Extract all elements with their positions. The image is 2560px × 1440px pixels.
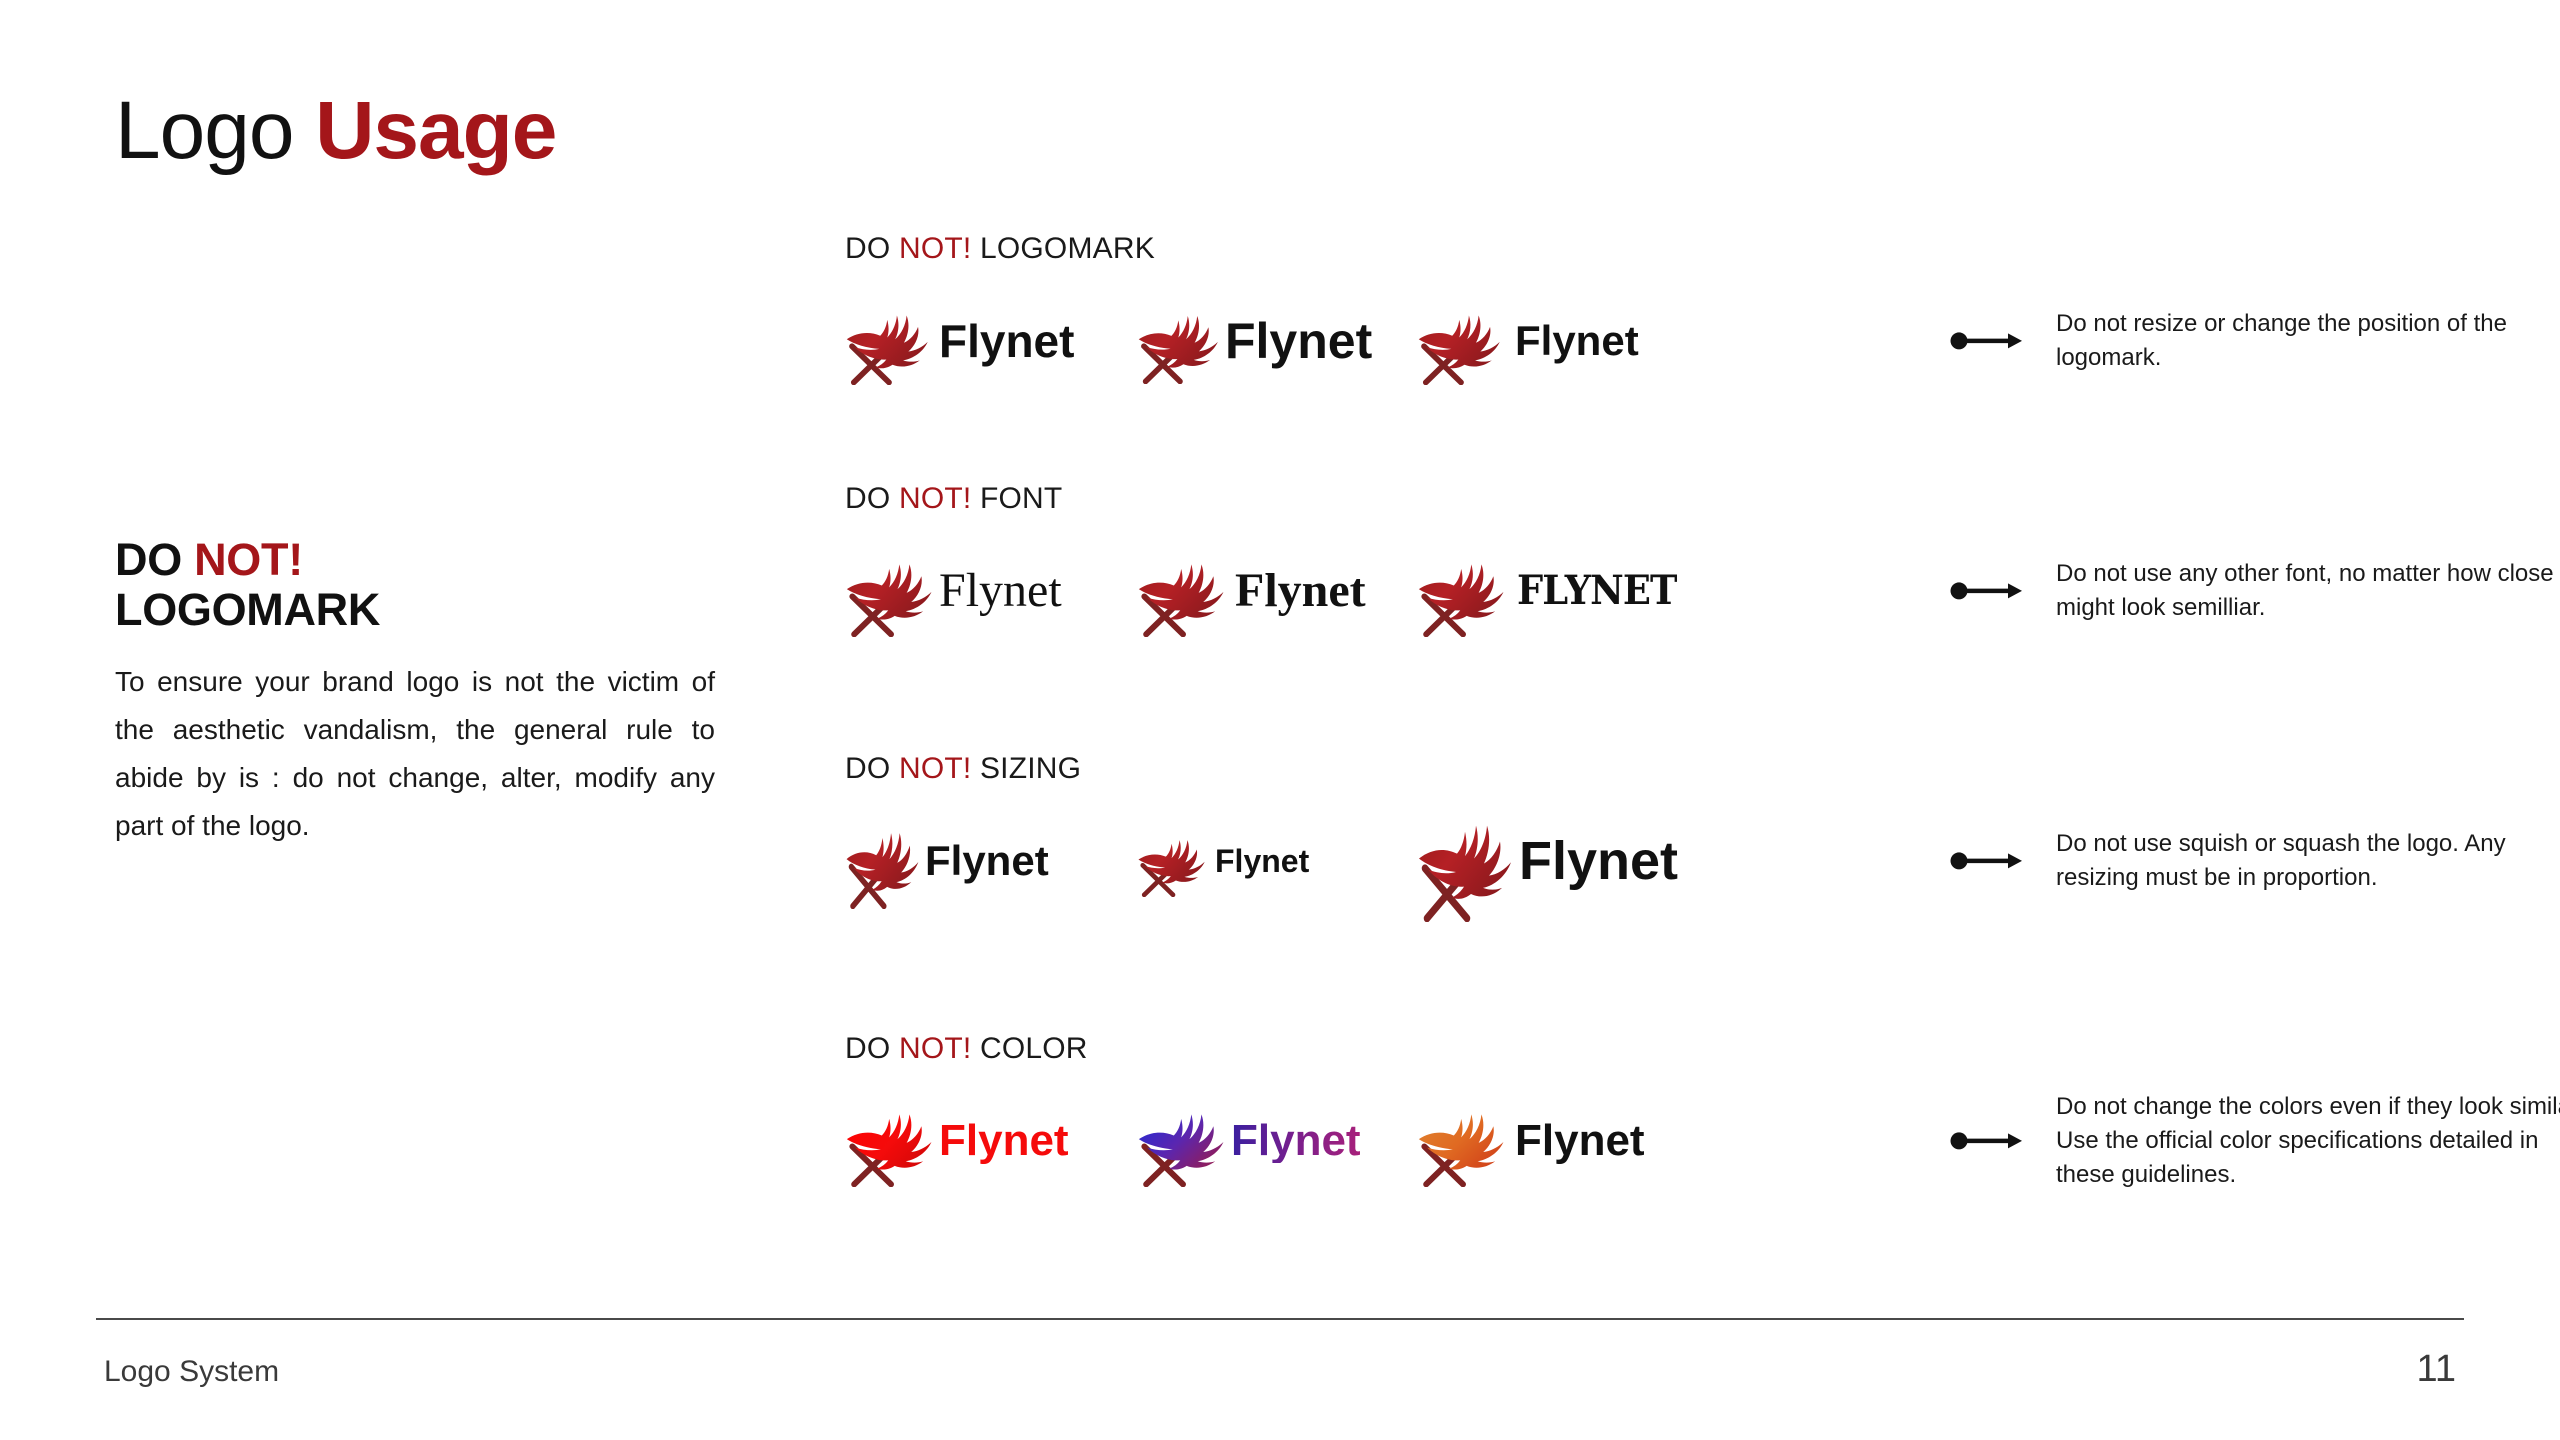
- logo-example-row: Flynet Flynet FLYNET Do not use any othe…: [845, 516, 2445, 666]
- logo-lockup: FLYNET: [1417, 545, 1690, 637]
- logo-example-row: Flynet Flynet Flynet Do not change the c…: [845, 1066, 2445, 1216]
- arrow-right-icon: [1950, 329, 2024, 353]
- logo-wordmark: Flynet: [1515, 320, 1639, 362]
- flynet-bird-flame-logomark: [1417, 800, 1517, 922]
- intro-heading-logomark: LOGOMARK: [115, 584, 380, 635]
- logo-lockup: Flynet: [845, 545, 1062, 637]
- section-label-topic: LOGOMARK: [980, 232, 1155, 265]
- logo-lockup: Flynet: [1137, 1095, 1361, 1187]
- intro-body-text: To ensure your brand logo is not the vic…: [115, 658, 715, 851]
- logo-wordmark: Flynet: [1515, 1119, 1645, 1163]
- logo-lockup: Flynet: [1137, 298, 1372, 384]
- annotation-text: Do not resize or change the position of …: [2056, 307, 2560, 375]
- arrow-right-icon: [1950, 579, 2024, 603]
- intro-heading: DO NOT! LOGOMARK: [115, 535, 715, 636]
- logo-example: Flynet: [1137, 786, 1309, 936]
- logo-wordmark: Flynet: [939, 1119, 1069, 1163]
- annotation-text: Do not use squish or squash the logo. An…: [2056, 827, 2560, 895]
- logo-wordmark: FLYNET: [1517, 571, 1676, 611]
- page-title: Logo Usage: [115, 88, 556, 174]
- section-label-not: NOT!: [899, 752, 971, 785]
- section-label-not: NOT!: [899, 1032, 971, 1065]
- section-label-sizing: DO NOT! SIZING: [845, 752, 2445, 786]
- logo-lockup: Flynet: [1137, 825, 1309, 897]
- section-label-do: DO: [845, 1032, 890, 1065]
- do-not-section: DO NOT! SIZING Flynet Flynet Flynet Do n…: [845, 752, 2445, 936]
- annotation-text: Do not change the colors even if they lo…: [2056, 1090, 2560, 1192]
- flynet-bird-flame-logomark: [1417, 297, 1505, 385]
- logo-example: Flynet: [845, 516, 1062, 666]
- intro-column: DO NOT! LOGOMARK To ensure your brand lo…: [115, 535, 715, 850]
- flynet-bird-flame-logomark: [1417, 1095, 1509, 1187]
- logo-wordmark: Flynet: [1231, 1119, 1361, 1163]
- logo-wordmark: Flynet: [939, 567, 1062, 615]
- logo-example: Flynet: [1417, 266, 1639, 416]
- logo-example-row: Flynet Flynet Flynet Do not use squish o…: [845, 786, 2445, 936]
- flynet-bird-flame-logomark: [845, 297, 933, 385]
- logo-lockup: Flynet: [845, 297, 1074, 385]
- annotation: Do not resize or change the position of …: [1950, 307, 2560, 375]
- flynet-bird-flame-logomark: [1137, 825, 1209, 897]
- section-label-font: DO NOT! FONT: [845, 482, 2445, 516]
- arrow-right-icon: [1950, 849, 2024, 873]
- section-label-topic: SIZING: [980, 752, 1081, 785]
- logo-wordmark: Flynet: [1225, 316, 1372, 366]
- flynet-bird-flame-logomark: [1137, 298, 1223, 384]
- section-label-not: NOT!: [899, 232, 971, 265]
- logo-example: Flynet: [1137, 1066, 1361, 1216]
- logo-lockup: Flynet: [845, 1095, 1069, 1187]
- logo-lockup: Flynet: [1137, 545, 1366, 637]
- logo-lockup: Flynet: [1417, 1095, 1645, 1187]
- logo-example: Flynet: [845, 266, 1074, 416]
- logo-wordmark: Flynet: [1519, 834, 1678, 888]
- footer-section-name: Logo System: [104, 1355, 279, 1389]
- annotation-text: Do not use any other font, no matter how…: [2056, 557, 2560, 625]
- annotation: Do not use squish or squash the logo. An…: [1950, 827, 2560, 895]
- flynet-bird-flame-logomark: [1137, 545, 1229, 637]
- intro-heading-not: NOT!: [194, 534, 303, 585]
- flynet-bird-flame-logomark: [845, 545, 937, 637]
- logo-example: Flynet: [1417, 1066, 1645, 1216]
- flynet-bird-flame-logomark: [845, 1095, 937, 1187]
- footer-page-number: 11: [2417, 1348, 2456, 1391]
- flynet-bird-flame-logomark: [845, 813, 923, 909]
- flynet-bird-flame-logomark: [1417, 545, 1509, 637]
- footer-divider: [96, 1318, 2464, 1320]
- logo-wordmark: Flynet: [939, 318, 1074, 364]
- logo-wordmark: Flynet: [925, 840, 1049, 882]
- section-label-do: DO: [845, 752, 890, 785]
- logo-lockup: Flynet: [1417, 800, 1678, 922]
- logo-example: Flynet: [1417, 786, 1678, 936]
- do-not-section: DO NOT! LOGOMARK Flynet Flynet Flynet Do…: [845, 232, 2445, 416]
- section-label-not: NOT!: [899, 482, 971, 515]
- annotation: Do not use any other font, no matter how…: [1950, 557, 2560, 625]
- logo-example: FLYNET: [1417, 516, 1690, 666]
- logo-example-row: Flynet Flynet Flynet Do not resize or ch…: [845, 266, 2445, 416]
- logo-lockup: Flynet: [1417, 297, 1639, 385]
- logo-wordmark: Flynet: [1235, 567, 1366, 615]
- logo-example: Flynet: [845, 1066, 1069, 1216]
- logo-example: Flynet: [845, 786, 1049, 936]
- section-label-color: DO NOT! COLOR: [845, 1032, 2445, 1066]
- section-label-logomark: DO NOT! LOGOMARK: [845, 232, 2445, 266]
- section-label-topic: FONT: [980, 482, 1062, 515]
- page-title-part2: Usage: [315, 85, 556, 176]
- page-title-part1: Logo: [115, 85, 293, 176]
- intro-heading-do: DO: [115, 534, 182, 585]
- section-label-do: DO: [845, 232, 890, 265]
- do-not-section: DO NOT! FONT Flynet Flynet FLYNET Do not…: [845, 482, 2445, 666]
- logo-lockup: Flynet: [845, 813, 1049, 909]
- arrow-right-icon: [1950, 1129, 2024, 1153]
- logo-wordmark: Flynet: [1215, 845, 1309, 877]
- section-label-topic: COLOR: [980, 1032, 1088, 1065]
- section-label-do: DO: [845, 482, 890, 515]
- annotation: Do not change the colors even if they lo…: [1950, 1090, 2560, 1192]
- logo-example: Flynet: [1137, 266, 1372, 416]
- logo-example: Flynet: [1137, 516, 1366, 666]
- flynet-bird-flame-logomark: [1137, 1095, 1229, 1187]
- do-not-section: DO NOT! COLOR Flynet Flynet Flynet Do no…: [845, 1032, 2445, 1216]
